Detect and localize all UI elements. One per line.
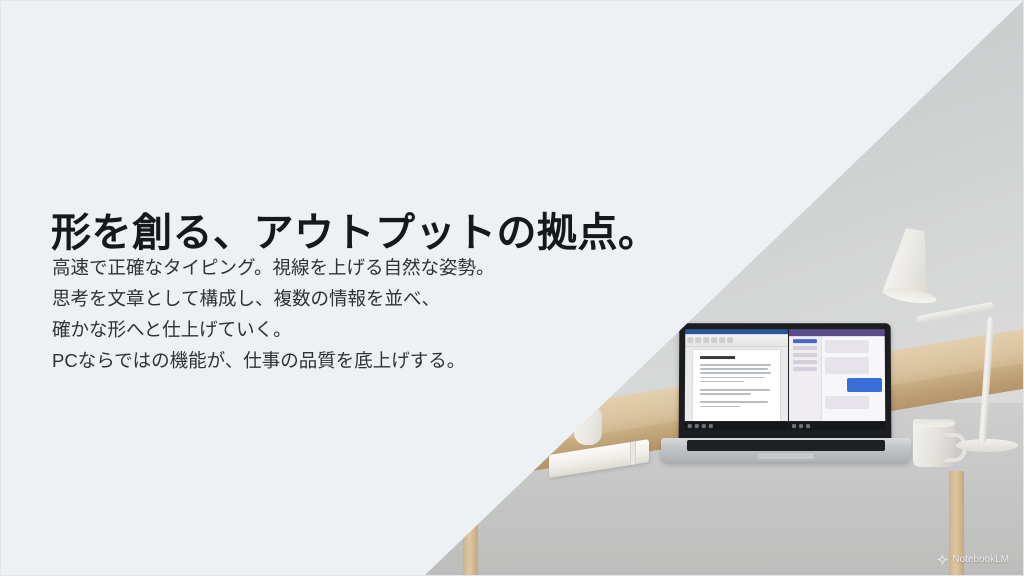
chat-sidebar-item-active bbox=[793, 339, 816, 343]
windows-taskbar bbox=[685, 421, 789, 430]
ribbon-button bbox=[711, 337, 717, 343]
body-line: 確かな形へと仕上げていく。 bbox=[52, 314, 495, 345]
notebooklm-watermark: NotebookLM bbox=[937, 554, 1009, 565]
document-text-line bbox=[700, 406, 740, 408]
notebook-elastic-band bbox=[630, 441, 636, 465]
document-page bbox=[693, 350, 781, 421]
document-heading-placeholder bbox=[700, 356, 735, 359]
laptop-keyboard bbox=[687, 440, 885, 451]
chat-layout bbox=[789, 336, 885, 421]
taskbar-icon bbox=[807, 424, 811, 428]
taskbar-icon bbox=[695, 424, 699, 428]
chat-application-window bbox=[788, 329, 885, 430]
ribbon-button bbox=[695, 337, 701, 343]
chat-sidebar-item bbox=[793, 367, 816, 371]
white-vase bbox=[574, 409, 602, 445]
chat-sidebar bbox=[789, 336, 822, 421]
laptop-screen bbox=[685, 329, 886, 430]
document-text-line bbox=[700, 393, 751, 395]
body-line: PCならではの機能が、仕事の品質を底上げする。 bbox=[52, 345, 495, 376]
slide-canvas: 形を創る、アウトプットの拠点。 高速で正確なタイピング。視線を上げる自然な姿勢。… bbox=[0, 0, 1024, 576]
ribbon-button bbox=[719, 337, 725, 343]
word-document-window bbox=[685, 329, 789, 430]
lamp-base bbox=[956, 439, 1018, 452]
ceramic-mug bbox=[913, 419, 955, 467]
laptop-base bbox=[661, 438, 911, 462]
notebooklm-spark-icon bbox=[937, 554, 948, 565]
document-text-line bbox=[700, 401, 768, 403]
body-line: 高速で正確なタイピング。視線を上げる自然な姿勢。 bbox=[52, 252, 495, 283]
document-text-line bbox=[700, 372, 771, 374]
laptop-trackpad bbox=[757, 452, 815, 460]
taskbar-icon bbox=[702, 424, 706, 428]
mug-rim bbox=[913, 419, 955, 427]
chat-sidebar-item bbox=[793, 360, 816, 364]
body-line: 思考を文章として構成し、複数の情報を並べ、 bbox=[52, 283, 495, 314]
document-text-line bbox=[700, 377, 765, 379]
document-text-line bbox=[700, 364, 770, 366]
open-silver-laptop bbox=[661, 323, 911, 473]
chat-bubble-received bbox=[825, 340, 869, 353]
document-text-line bbox=[700, 368, 768, 370]
document-ribbon-toolbar bbox=[685, 334, 788, 347]
laptop-lid bbox=[679, 323, 892, 441]
document-text-line bbox=[700, 381, 744, 383]
taskbar-icon bbox=[709, 424, 713, 428]
ribbon-button bbox=[703, 337, 709, 343]
document-text-line bbox=[700, 389, 770, 391]
notebooklm-watermark-label: NotebookLM bbox=[952, 554, 1009, 565]
ribbon-button bbox=[727, 337, 733, 343]
chat-bubble-received bbox=[825, 357, 870, 374]
desk-leg-left bbox=[463, 521, 478, 575]
chat-message-list bbox=[822, 336, 885, 421]
chat-sidebar-item bbox=[793, 346, 816, 350]
ribbon-button bbox=[687, 337, 693, 343]
windows-taskbar bbox=[789, 421, 885, 430]
page-title: 形を創る、アウトプットの拠点。 bbox=[51, 210, 659, 256]
chat-title-bar bbox=[789, 329, 884, 336]
chat-sidebar-item bbox=[793, 353, 816, 357]
taskbar-icon bbox=[688, 424, 692, 428]
chat-bubble-received bbox=[825, 396, 870, 409]
body-copy: 高速で正確なタイピング。視線を上げる自然な姿勢。 思考を文章として構成し、複数の… bbox=[52, 252, 495, 376]
taskbar-icon bbox=[793, 424, 797, 428]
chat-bubble-sent bbox=[847, 378, 882, 392]
taskbar-icon bbox=[800, 424, 804, 428]
